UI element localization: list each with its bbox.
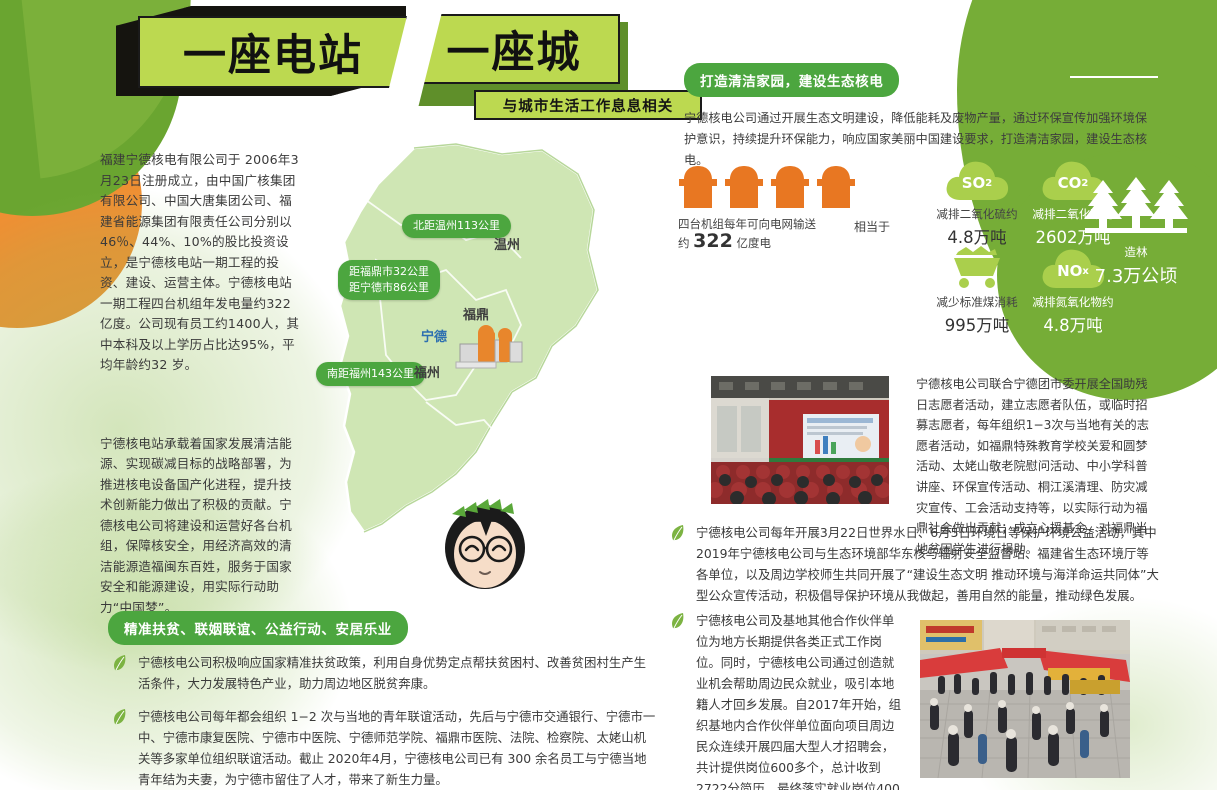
employment-paragraph: 宁德核电公司及基地其他合作伙伴单位为地方长期提供各类正式工作岗位。同时，宁德核电… <box>696 610 905 790</box>
poverty-relief-banner: 精准扶贫、联姻联谊、公益行动、安居乐业 <box>108 611 408 645</box>
stat-nox-value: 4.8万吨 <box>1008 312 1138 336</box>
cloud-label-text: SO <box>962 174 986 192</box>
map-city-ningde: 宁德 <box>421 326 447 345</box>
map-label-fuzhou-distance: 南距福州143公里 <box>316 362 425 386</box>
left-bullet-text-1: 宁德核电公司积极响应国家精准扶贫政策，利用自身优势定点帮扶贫困村、改善贫困村生产… <box>138 652 652 694</box>
page-subtitle: 与城市生活工作息息相关 <box>474 90 702 120</box>
reactor-unit-icon <box>770 164 810 210</box>
map-label-line-1: 距福鼎市32公里 <box>349 265 429 278</box>
leaf-bullet-icon <box>670 612 686 636</box>
strategy-paragraph: 宁德核电站承载着国家发展清洁能源、实现碳减目标的战略部署，为推进核电设备国产化进… <box>100 434 300 619</box>
coal-cart-icon <box>944 246 1010 290</box>
stat-forest: 造林 7.3万公顷 <box>1066 176 1206 288</box>
cloud-label: SO2 <box>944 158 1010 202</box>
reactor-units-value-row: 约 322 亿度电 <box>678 233 816 252</box>
auditorium-photo-image <box>711 376 889 504</box>
stat-forest-caption: 造林 <box>1066 244 1206 261</box>
reactor-units-unit: 亿度电 <box>736 236 771 250</box>
leaf-bullet-icon <box>112 708 128 732</box>
employment-bullet-item: 宁德核电公司及基地其他合作伙伴单位为地方长期提供各类正式工作岗位。同时，宁德核电… <box>670 610 905 790</box>
environment-bullet-item: 宁德核电公司每年开展3月22日世界水日、6月5日环境日等保护环境公益活动，其中2… <box>670 522 1160 606</box>
reactor-unit-icon <box>724 164 764 210</box>
left-bullet-item-1: 宁德核电公司积极响应国家精准扶贫政策，利用自身优势定点帮扶贫困村、改善贫困村生产… <box>112 652 652 694</box>
company-intro-paragraph: 福建宁德核电有限公司于 2006年3月23日注册成立，由中国广核集团有限公司、中… <box>100 150 300 376</box>
equivalent-label: 相当于 <box>854 218 890 235</box>
map-city-fuzhou: 福州 <box>414 362 440 381</box>
trees-icon <box>1081 176 1191 240</box>
leaf-bullet-icon <box>670 524 686 548</box>
reactor-units-caption: 四台机组每年可向电网输送 约 322 亿度电 <box>678 216 816 252</box>
infographic-page: 一座电站 一座城 与城市生活工作息息相关 福建宁德核电有限公司于 2006年3月… <box>0 0 1217 790</box>
page-title: 一座电站 一座城 与城市生活工作息息相关 <box>108 2 628 124</box>
reactor-units-prefix: 约 <box>678 236 690 250</box>
cloud-label-sub: 2 <box>985 178 992 189</box>
left-text-column: 福建宁德核电有限公司于 2006年3月23日注册成立，由中国广核集团有限公司、中… <box>100 150 300 618</box>
mascot-avatar <box>430 492 540 597</box>
stat-forest-value: 7.3万公顷 <box>1066 262 1206 288</box>
map-label-fuding-ningde-distance: 距福鼎市32公里 距宁德市86公里 <box>338 260 440 300</box>
banner-underline-rule <box>1070 76 1158 78</box>
reactor-unit-icon <box>678 164 718 210</box>
map-label-line-2: 距宁德市86公里 <box>349 281 429 294</box>
stat-nox-caption: 减排氮氧化物约 <box>1008 294 1138 311</box>
environment-paragraph: 宁德核电公司每年开展3月22日世界水日、6月5日环境日等保护环境公益活动，其中2… <box>696 522 1160 606</box>
map-city-wenzhou: 温州 <box>494 234 520 253</box>
title-part-one: 一座电站 <box>138 16 408 88</box>
reactor-units-value: 322 <box>693 230 733 252</box>
volunteer-event-photo <box>711 376 889 504</box>
fujian-map: 北距温州113公里 距福鼎市32公里 距宁德市86公里 南距福州143公里 温州… <box>306 140 606 540</box>
title-part-two: 一座城 <box>408 14 620 84</box>
map-city-fuding: 福鼎 <box>463 304 489 323</box>
reactor-unit-icon <box>816 164 856 210</box>
mascot-face-icon <box>430 492 540 597</box>
leaf-bullet-icon <box>112 654 128 678</box>
job-fair-photo <box>920 620 1130 778</box>
cloud-icon: SO2 <box>944 158 1010 202</box>
left-bullet-text-2: 宁德核电公司每年都会组织 1−2 次与当地的青年联谊活动，先后与宁德市交通银行、… <box>138 706 657 790</box>
left-bullet-item-2: 宁德核电公司每年都会组织 1−2 次与当地的青年联谊活动，先后与宁德市交通银行、… <box>112 706 657 790</box>
environmental-stats: 四台机组每年可向电网输送 约 322 亿度电 相当于 SO2 减排二氧化硫约 4… <box>668 150 1208 330</box>
job-fair-photo-image <box>920 620 1130 778</box>
clean-home-banner: 打造清洁家园，建设生态核电 <box>684 63 899 97</box>
reactor-units-icons <box>678 164 856 210</box>
